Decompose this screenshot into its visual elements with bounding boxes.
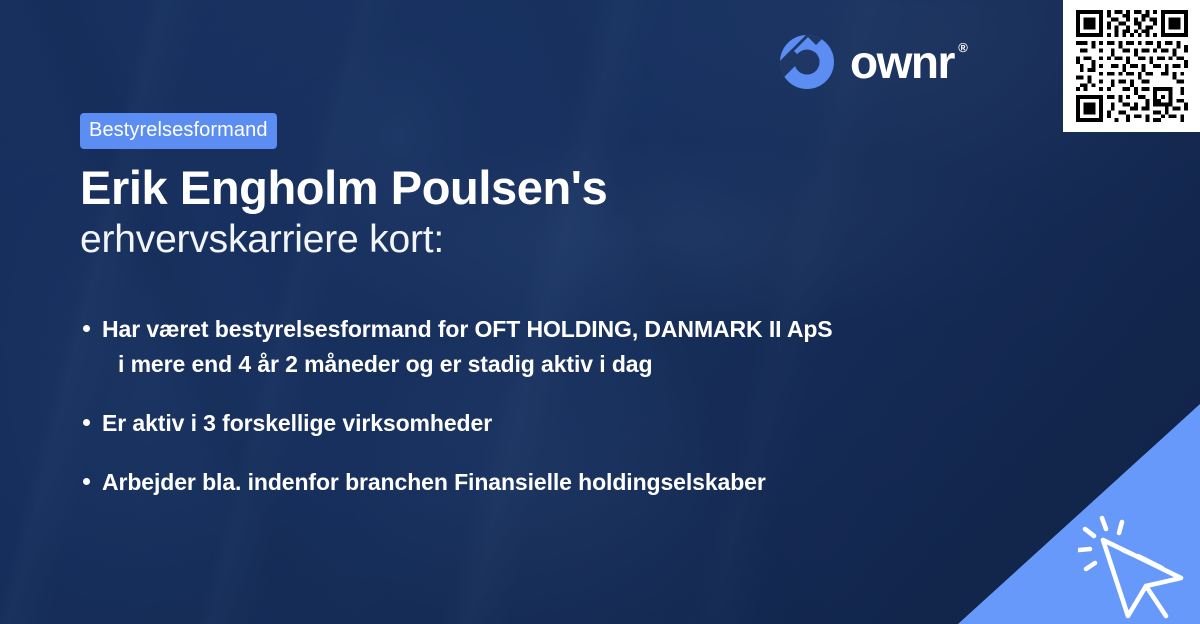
list-item: Arbejder bla. indenfor branchen Finansie… xyxy=(80,465,1020,500)
list-item-line1: Er aktiv i 3 forskellige virksomheder xyxy=(102,410,492,436)
list-item-line2: i mere end 4 år 2 måneder og er stadig a… xyxy=(102,347,833,382)
click-cursor-icon xyxy=(1078,512,1190,620)
headline-block: Bestyrelsesformand Erik Engholm Poulsen'… xyxy=(80,113,1060,264)
bullet-dot-icon xyxy=(83,325,90,332)
ownr-wordmark-text: ownr xyxy=(850,36,954,88)
ownr-circle-logo-icon xyxy=(778,33,836,91)
registered-trademark-icon: ® xyxy=(958,41,968,54)
page-subtitle: erhvervskarriere kort: xyxy=(80,217,1060,264)
career-facts-list: Har været bestyrelsesformand for OFT HOL… xyxy=(80,312,1020,500)
bullet-dot-icon xyxy=(83,478,90,485)
list-item: Har været bestyrelsesformand for OFT HOL… xyxy=(80,312,1020,382)
qr-code[interactable] xyxy=(1076,10,1188,122)
career-card: ownr ® Bestyrelsesformand Erik Engholm P… xyxy=(0,0,1200,624)
list-item: Er aktiv i 3 forskellige virksomheder xyxy=(80,406,1020,441)
list-item-text: Er aktiv i 3 forskellige virksomheder xyxy=(102,406,492,441)
ownr-wordmark: ownr ® xyxy=(850,39,968,85)
list-item-text: Har været bestyrelsesformand for OFT HOL… xyxy=(102,312,833,382)
qr-code-panel[interactable] xyxy=(1063,0,1200,132)
role-badge: Bestyrelsesformand xyxy=(80,113,277,149)
ownr-logo[interactable]: ownr ® xyxy=(778,33,968,91)
list-item-line1: Arbejder bla. indenfor branchen Finansie… xyxy=(102,469,766,495)
bullet-dot-icon xyxy=(83,419,90,426)
page-title: Erik Engholm Poulsen's xyxy=(80,163,1060,213)
list-item-line1: Har været bestyrelsesformand for OFT HOL… xyxy=(102,316,833,342)
list-item-text: Arbejder bla. indenfor branchen Finansie… xyxy=(102,465,766,500)
